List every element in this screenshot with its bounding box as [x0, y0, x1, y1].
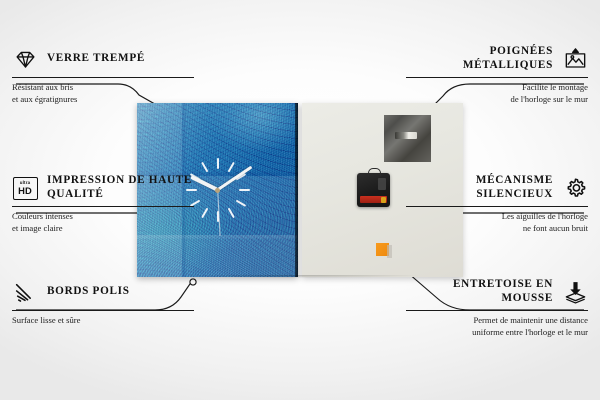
feature-title: POIGNÉES MÉTALLIQUES	[406, 45, 553, 72]
battery	[360, 196, 387, 203]
foam-spacer	[376, 243, 389, 256]
ultra-hd-main-text: HD	[18, 186, 32, 195]
feature-divider	[406, 206, 588, 207]
panel-edge	[295, 103, 298, 277]
feature-header: VERRE TREMPÉ	[12, 44, 194, 74]
feature-mecanisme-silencieux: MÉCANISME SILENCIEUX Les aiguilles de l'…	[406, 173, 588, 235]
feature-divider	[406, 77, 588, 78]
feature-description: Les aiguilles de l'horloge ne font aucun…	[406, 211, 588, 235]
feature-verre-trempe: VERRE TREMPÉ Résistant aux bris et aux é…	[12, 44, 194, 106]
gear-icon	[562, 175, 588, 201]
feature-bords-polis: BORDS POLIS Surface lisse et sûre	[12, 277, 194, 327]
ultra-hd-icon: ultra HD	[12, 175, 38, 201]
hanger-slot	[395, 132, 417, 139]
feature-divider	[12, 206, 194, 207]
feature-title: IMPRESSION DE HAUTE QUALITÉ	[47, 174, 194, 201]
clock-center-cap	[215, 188, 220, 193]
polished-edges-icon	[12, 279, 38, 305]
feature-description: Surface lisse et sûre	[12, 315, 194, 327]
feature-divider	[406, 310, 588, 311]
feature-header: MÉCANISME SILENCIEUX	[406, 173, 588, 203]
feature-title: ENTRETOISE EN MOUSSE	[406, 278, 553, 305]
feature-header: POIGNÉES MÉTALLIQUES	[406, 44, 588, 74]
foam-spacer-arrow-icon	[562, 279, 588, 305]
feature-entretoise-en-mousse: ENTRETOISE EN MOUSSE Permet de maintenir…	[406, 277, 588, 339]
feature-description: Facilite le montage de l'horloge sur le …	[406, 82, 588, 106]
feature-poignees-metalliques: POIGNÉES MÉTALLIQUES Facilite le montage…	[406, 44, 588, 106]
product-feature-infographic: VERRE TREMPÉ Résistant aux bris et aux é…	[0, 0, 600, 400]
mechanism-detail	[378, 178, 386, 190]
feature-impression-haute-qualite: ultra HD IMPRESSION DE HAUTE QUALITÉ Cou…	[12, 173, 194, 235]
framed-picture-hanging-icon	[562, 46, 588, 72]
feature-title: BORDS POLIS	[47, 285, 130, 299]
feature-header: ENTRETOISE EN MOUSSE	[406, 277, 588, 307]
feature-divider	[12, 77, 194, 78]
diamond-icon	[12, 46, 38, 72]
ultra-hd-box: ultra HD	[13, 177, 38, 200]
clock-mechanism	[357, 173, 390, 207]
metal-hanger-plate	[384, 115, 431, 162]
mechanism-hanging-loop	[368, 168, 381, 176]
feature-header: ultra HD IMPRESSION DE HAUTE QUALITÉ	[12, 173, 194, 203]
feature-description: Permet de maintenir une distance uniform…	[406, 315, 588, 339]
feature-title: VERRE TREMPÉ	[47, 52, 145, 66]
feature-title: MÉCANISME SILENCIEUX	[406, 174, 553, 201]
feature-description: Résistant aux bris et aux égratignures	[12, 82, 194, 106]
feature-description: Couleurs intenses et image claire	[12, 211, 194, 235]
feature-divider	[12, 310, 194, 311]
feature-header: BORDS POLIS	[12, 277, 194, 307]
